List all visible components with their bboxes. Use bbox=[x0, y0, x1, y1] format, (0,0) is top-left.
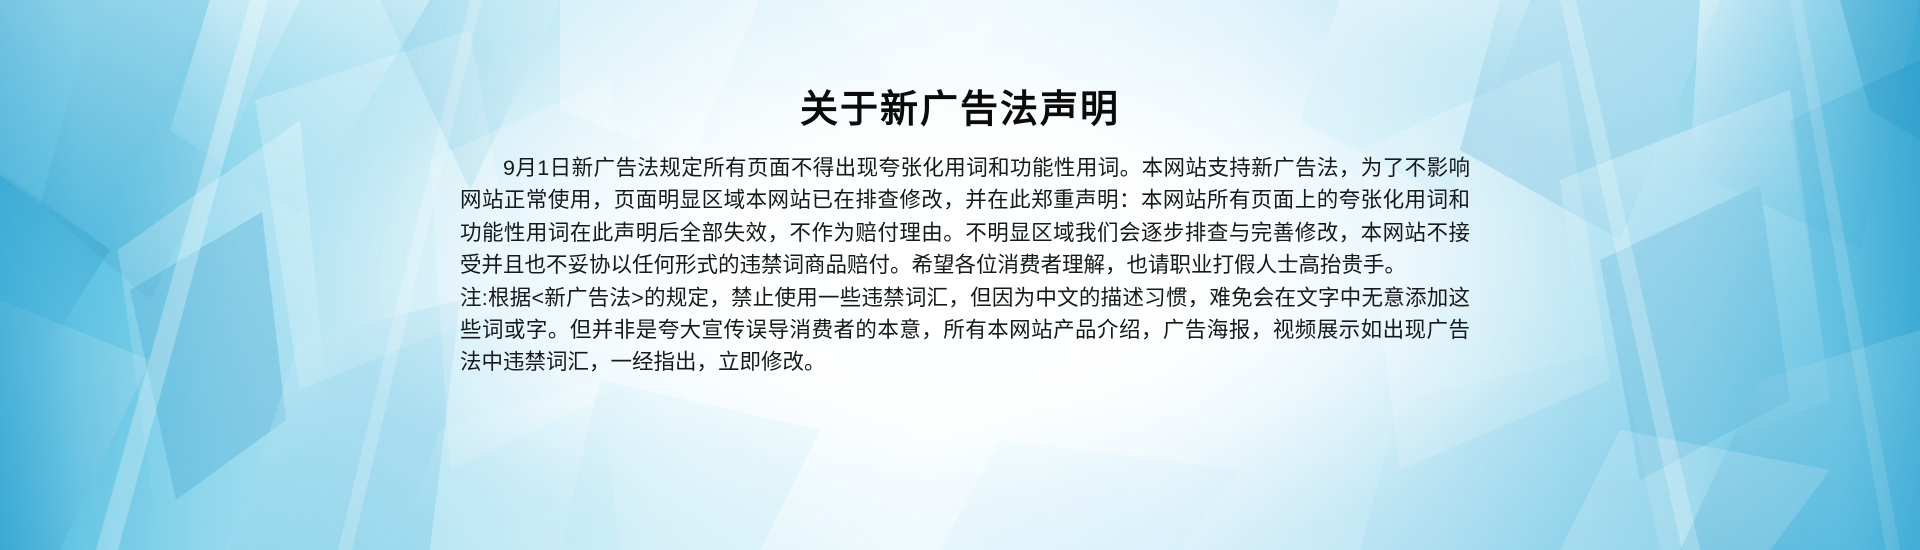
page-title: 关于新广告法声明 bbox=[0, 88, 1920, 132]
notice-body: 9月1日新广告法规定所有页面不得出现夸张化用词和功能性用词。本网站支持新广告法，… bbox=[460, 152, 1470, 379]
announcement-content: 关于新广告法声明 9月1日新广告法规定所有页面不得出现夸张化用词和功能性用词。本… bbox=[0, 0, 1920, 550]
notice-paragraph-2: 注:根据<新广告法>的规定，禁止使用一些违禁词汇，但因为中文的描述习惯，难免会在… bbox=[460, 282, 1470, 379]
announcement-banner: 关于新广告法声明 9月1日新广告法规定所有页面不得出现夸张化用词和功能性用词。本… bbox=[0, 0, 1920, 550]
notice-paragraph-1: 9月1日新广告法规定所有页面不得出现夸张化用词和功能性用词。本网站支持新广告法，… bbox=[460, 152, 1470, 282]
